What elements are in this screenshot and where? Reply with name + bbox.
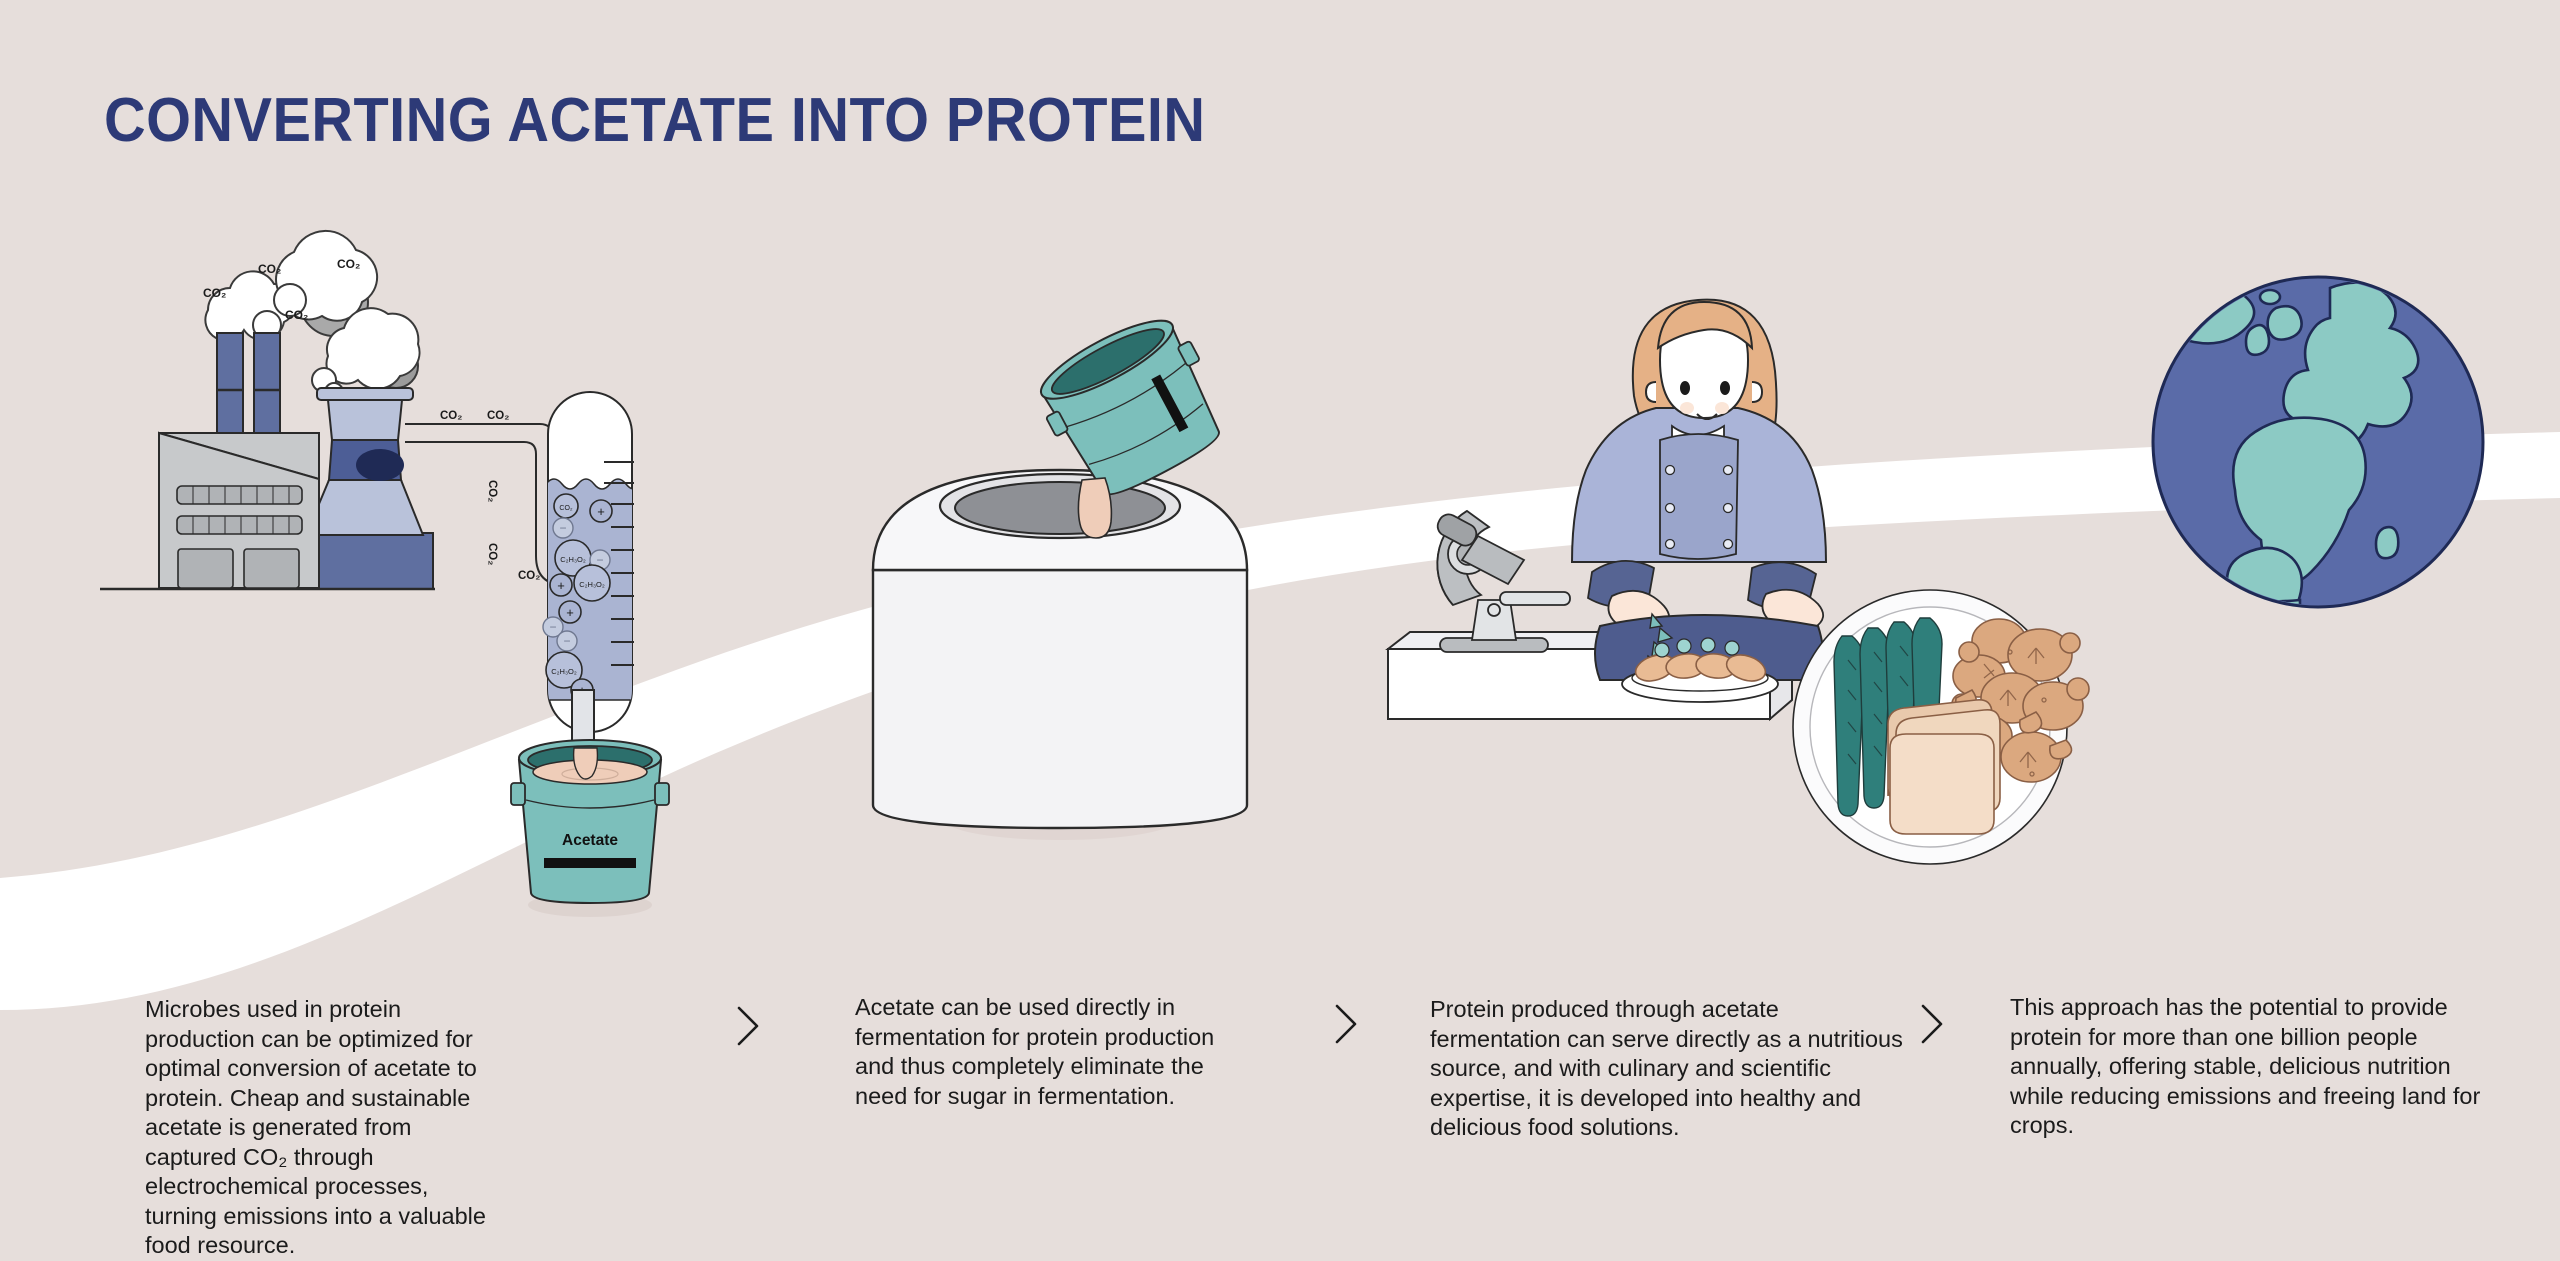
svg-text:−: − (563, 634, 570, 648)
svg-text:C₂H₃O₂: C₂H₃O₂ (579, 580, 605, 589)
chef-cheek-right (1715, 402, 1729, 414)
acetate-bucket-label: Acetate (562, 832, 618, 849)
co2-label-smoke-3: CO₂ (337, 257, 360, 271)
svg-text:+: + (566, 605, 574, 620)
svg-text:CO₂: CO₂ (559, 505, 573, 512)
co2-label-smoke-1: CO₂ (203, 286, 226, 300)
svg-text:+: + (557, 578, 565, 593)
svg-text:+: + (597, 504, 605, 519)
step-captions: Microbes used in protein production can … (0, 990, 2560, 1190)
svg-text:−: − (549, 620, 556, 634)
co2-label-smoke-4: CO₂ (285, 308, 308, 322)
step-caption-3: Protein produced through acetate ferment… (1430, 995, 1910, 1143)
acetate-bucket: Acetate (511, 740, 669, 917)
step-caption-2: Acetate can be used directly in fermenta… (855, 993, 1255, 1111)
co2-label-smoke-2: CO₂ (258, 262, 281, 276)
co2-label-pipe-2: CO₂ (487, 410, 509, 422)
bread-slices (1888, 700, 2000, 834)
factory-window-row-1 (177, 486, 302, 504)
factory-door-left (178, 549, 233, 588)
factory-building (159, 433, 319, 588)
page-title: CONVERTING ACETATE INTO PROTEIN (104, 90, 1205, 152)
svg-text:C₂H₃O₂: C₂H₃O₂ (560, 555, 586, 564)
svg-text:−: − (596, 553, 603, 567)
tank-opening-inner (955, 482, 1165, 534)
factory-window-row-2 (177, 516, 302, 534)
pour-stream (1078, 478, 1111, 538)
svg-text:−: − (559, 521, 566, 535)
co2-label-pipe-5: CO₂ (518, 570, 540, 582)
co2-label-pipe-4: CO₂ (486, 543, 498, 565)
bucket-lug-right (655, 783, 669, 805)
co2-label-pipe-1: CO₂ (440, 410, 462, 422)
step-caption-1: Microbes used in protein production can … (145, 995, 490, 1261)
chef-cheek-left (1680, 402, 1694, 414)
microscope-stage (1500, 592, 1570, 605)
chef-eye-left (1680, 381, 1690, 395)
factory-door-right (244, 549, 299, 588)
co2-label-pipe-3: CO₂ (486, 480, 498, 502)
chef-eye-right (1720, 381, 1730, 395)
svg-text:C₂H₃O₂: C₂H₃O₂ (551, 667, 577, 676)
electrolyzer-tube: CO₂ − C₂H₃O₂ + − C₂H₃O₂ + + − − C₂H₃O₂ + (543, 392, 642, 752)
fermentation-tank (873, 470, 1247, 840)
step-caption-4: This approach has the potential to provi… (2010, 993, 2490, 1141)
bucket-black-bar (544, 858, 636, 868)
bucket-lug-left (511, 783, 525, 805)
